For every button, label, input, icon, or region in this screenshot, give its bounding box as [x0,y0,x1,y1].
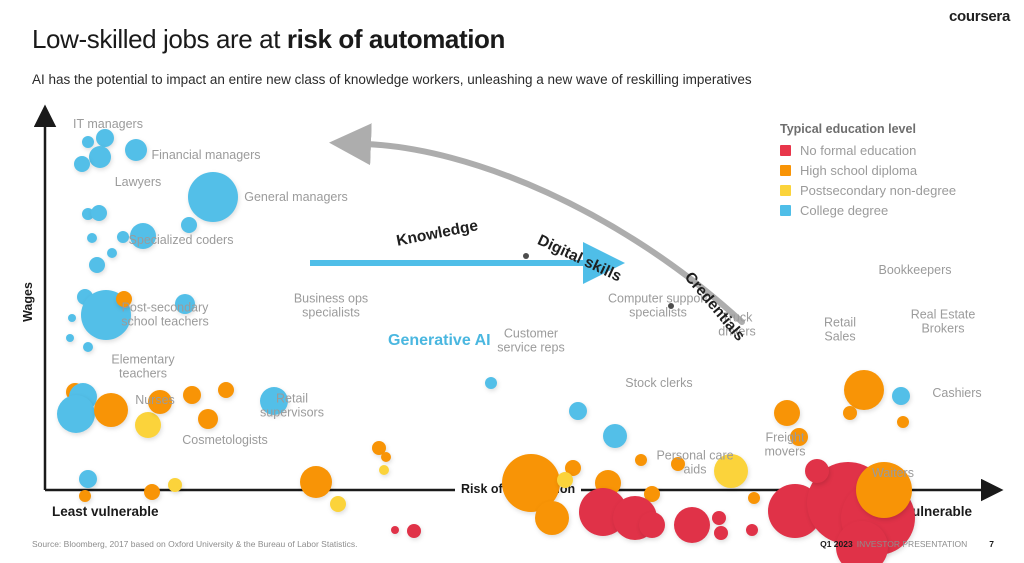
legend-swatch-icon [780,185,791,196]
point-label: Personal care aids [656,449,733,478]
bubble-red[interactable] [639,512,665,538]
legend-item-label: High school diploma [800,163,917,178]
legend-swatch-icon [780,205,791,216]
point-label: Freight movers [765,431,806,460]
footer-deck: INVESTOR PRESENTATION [857,539,968,549]
point-label: Retail Sales [824,316,856,345]
point-label: Real Estate Brokers [911,308,976,337]
legend-item-label: Postsecondary non-degree [800,183,956,198]
coursera-logo: coursera [949,8,1010,25]
bubble-red[interactable] [714,526,728,540]
bubble-red[interactable] [674,507,710,543]
annotation-generative-ai: Generative AI [388,332,491,350]
point-label: Post-secondary school teachers [121,301,209,330]
point-label: Elementary teachers [111,353,174,382]
footer-quarter: Q1 2023 [820,539,853,549]
bubble-red[interactable] [391,526,399,534]
point-label: Nurses [135,393,175,407]
annotation-dot-2 [668,303,674,309]
point-label: Cosmetologists [182,433,267,447]
point-label: Financial managers [151,148,260,162]
legend-rows: No formal educationHigh school diplomaPo… [780,143,1010,218]
footer-meta: Q1 2023INVESTOR PRESENTATION7 [820,539,994,549]
page-subtitle: AI has the potential to impact an entire… [32,72,752,87]
legend-item[interactable]: No formal education [780,143,1010,158]
point-label: Business ops specialists [294,292,368,321]
legend-item[interactable]: Postsecondary non-degree [780,183,1010,198]
point-label: Stock clerks [625,376,692,390]
footer-source: Source: Bloomberg, 2017 based on Oxford … [32,539,358,549]
point-label: Bookkeepers [879,263,952,277]
legend-swatch-icon [780,165,791,176]
bubble-orange[interactable] [535,501,569,535]
page-title-bold: risk of automation [287,24,505,54]
slide-root: coursera Low-skilled jobs are at risk of… [0,0,1024,563]
point-label: Cashiers [932,386,981,400]
point-label: Customer service reps [497,327,564,356]
legend-swatch-icon [780,145,791,156]
bubble-red[interactable] [407,524,421,538]
bubble-red[interactable] [712,511,726,525]
point-label: IT managers [73,117,143,131]
legend-item[interactable]: High school diploma [780,163,1010,178]
point-label: Waiters [872,466,914,480]
point-label: Retail supervisors [260,392,324,421]
point-label: General managers [244,190,348,204]
page-title-light: Low-skilled jobs are at [32,24,287,54]
annotation-dot-1 [523,253,529,259]
bubble-red[interactable] [746,524,758,536]
x-axis-least-vulnerable-label: Least vulnerable [52,504,159,519]
legend-item[interactable]: College degree [780,203,1010,218]
point-label: Lawyers [115,175,162,189]
legend-item-label: No formal education [800,143,916,158]
legend: Typical education level No formal educat… [780,122,1010,223]
legend-title: Typical education level [780,122,1010,136]
legend-item-label: College degree [800,203,888,218]
page-title: Low-skilled jobs are at risk of automati… [32,24,505,55]
footer-page-number: 7 [989,539,994,549]
point-label: Specialized coders [129,233,234,247]
